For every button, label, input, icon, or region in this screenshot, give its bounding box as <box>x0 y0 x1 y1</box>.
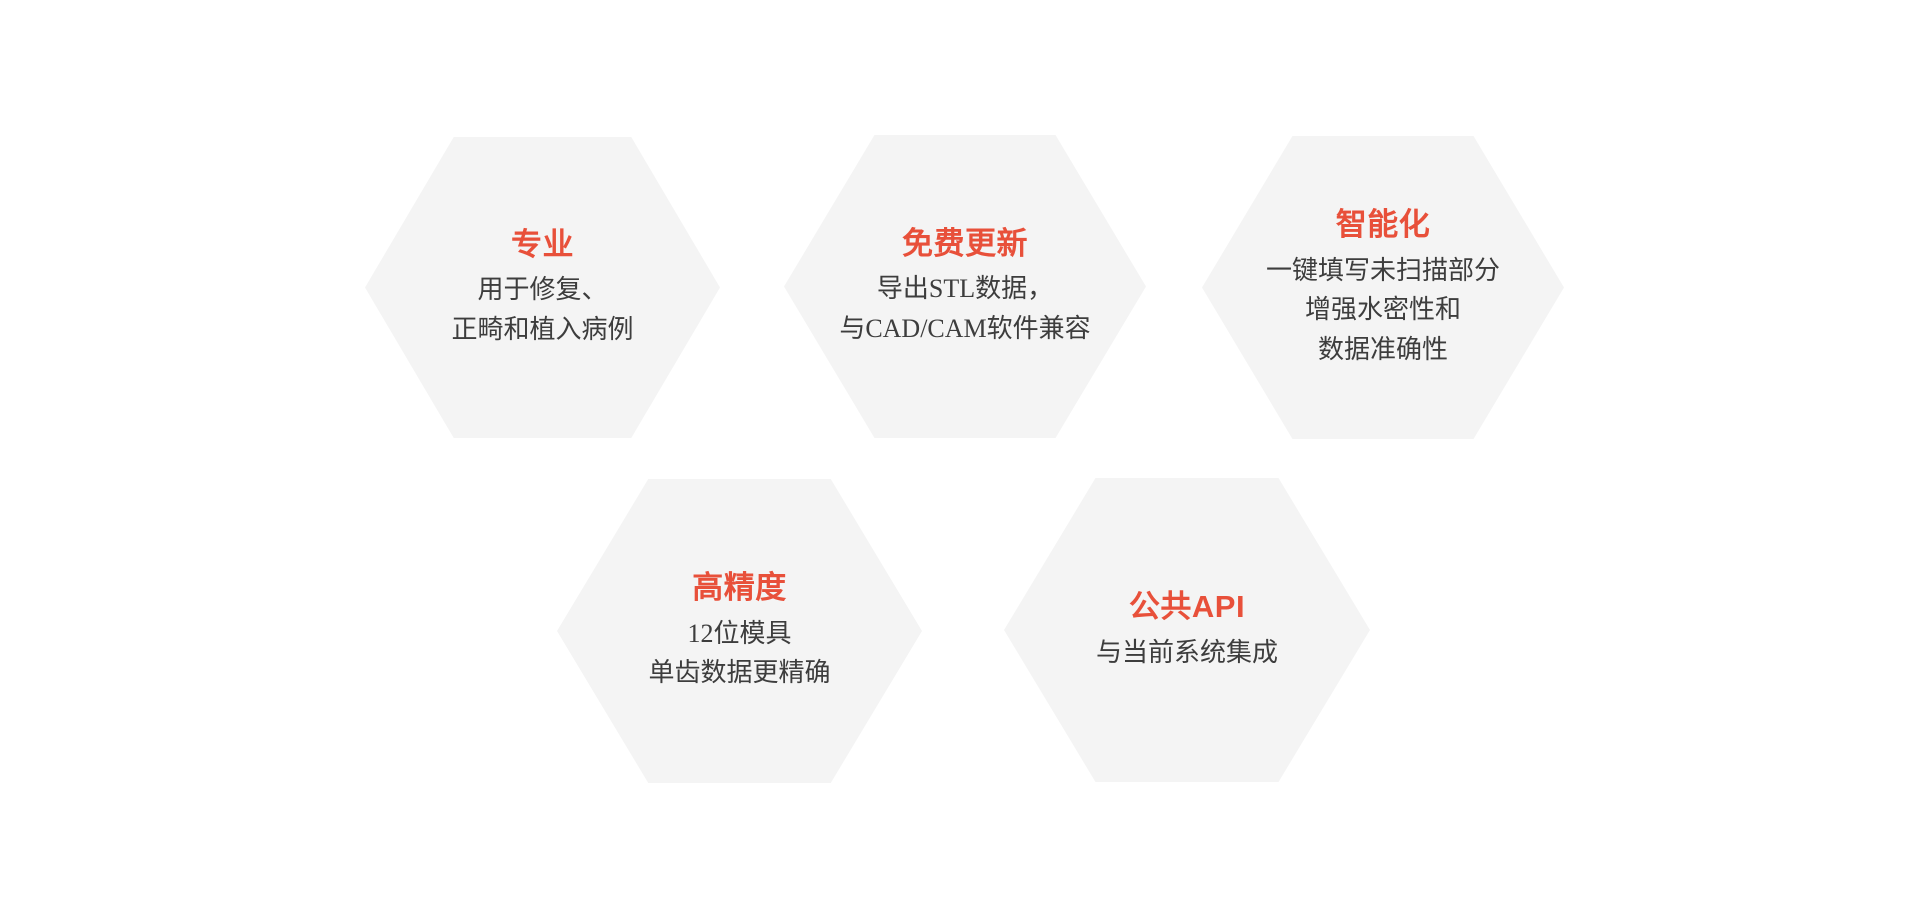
hexagon-body: 一键填写未扫描部分 增强水密性和 数据准确性 <box>1266 251 1500 370</box>
hexagon-body: 12位模具 单齿数据更精确 <box>648 614 830 693</box>
hexagon-body-line: 与当前系统集成 <box>1096 633 1278 673</box>
hexagon-body: 用于修复、 正畸和植入病例 <box>451 270 633 349</box>
hexagon-body-line: 用于修复、 <box>451 270 633 310</box>
hexagon-body-line: 数据准确性 <box>1266 330 1500 370</box>
feature-hexagon-grid: 专业 用于修复、 正畸和植入病例 免费更新 导出STL数据， 与CAD/CAM软… <box>0 0 1920 902</box>
hexagon-body-line: 12位模具 <box>648 614 830 654</box>
hexagon-body-line: 增强水密性和 <box>1266 290 1500 330</box>
hexagon-card-intelligent[interactable]: 智能化 一键填写未扫描部分 增强水密性和 数据准确性 <box>1202 136 1564 439</box>
hexagon-title: 免费更新 <box>902 225 1028 264</box>
hexagon-body-line: 正畸和植入病例 <box>451 310 633 350</box>
hexagon-title: 公共API <box>1129 588 1245 627</box>
hexagon-title: 专业 <box>511 226 574 265</box>
hexagon-body-line: 导出STL数据， <box>839 269 1090 309</box>
hexagon-card-high-precision[interactable]: 高精度 12位模具 单齿数据更精确 <box>557 479 922 783</box>
hexagon-body-line: 一键填写未扫描部分 <box>1266 251 1500 291</box>
hexagon-card-free-update[interactable]: 免费更新 导出STL数据， 与CAD/CAM软件兼容 <box>784 135 1146 438</box>
hexagon-body: 导出STL数据， 与CAD/CAM软件兼容 <box>839 269 1090 348</box>
hexagon-body-line: 单齿数据更精确 <box>648 653 830 693</box>
hexagon-body: 与当前系统集成 <box>1096 633 1278 673</box>
hexagon-body-line: 与CAD/CAM软件兼容 <box>839 309 1090 349</box>
hexagon-title: 高精度 <box>692 569 787 608</box>
hexagon-card-public-api[interactable]: 公共API 与当前系统集成 <box>1004 478 1370 782</box>
hexagon-card-professional[interactable]: 专业 用于修复、 正畸和植入病例 <box>365 137 720 438</box>
hexagon-title: 智能化 <box>1336 206 1431 245</box>
